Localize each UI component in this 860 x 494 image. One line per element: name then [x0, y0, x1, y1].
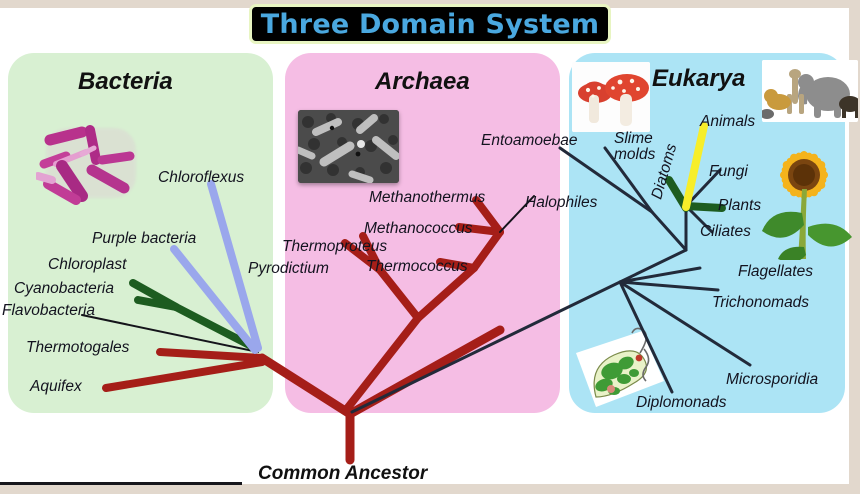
taxon-label-flavobacteria: Flavobacteria [2, 303, 95, 319]
domain-title-archaea: Archaea [375, 68, 470, 96]
bottom-rule [0, 482, 242, 485]
taxon-label-purple-bacteria: Purple bacteria [92, 231, 196, 247]
taxon-label-flagellates: Flagellates [738, 264, 813, 280]
taxon-label-diplomonads: Diplomonads [636, 395, 726, 411]
taxon-label-thermotogales: Thermotogales [26, 340, 129, 356]
taxon-label-slime-line2: molds [614, 146, 655, 163]
domain-title-bacteria: Bacteria [78, 68, 173, 96]
taxon-label-slime-line1: Slime [614, 130, 653, 147]
taxon-label-trichonomads: Trichonomads [712, 295, 809, 311]
taxon-label-fungi: Fungi [709, 164, 748, 180]
taxon-label-aquifex: Aquifex [30, 379, 82, 395]
taxon-label-chloroflexus: Chloroflexus [158, 170, 244, 186]
taxon-label-methanothermus: Methanothermus [369, 190, 485, 206]
title-banner: Three Domain System [249, 4, 611, 44]
bacteria-red-branches [106, 352, 262, 388]
root-label: Common Ancestor [258, 463, 427, 485]
taxon-label-cyanobacteria: Cyanobacteria [14, 281, 114, 297]
taxon-label-animals: Animals [700, 114, 755, 130]
taxon-label-plants: Plants [718, 198, 761, 214]
taxon-label-slime-molds: Slime molds [614, 131, 655, 163]
diagram-canvas: Three Domain System Bacteria Archaea Euk… [0, 0, 860, 494]
taxon-label-pyrodictium: Pyrodictium [248, 261, 329, 277]
taxon-label-entoamoebae: Entoamoebae [481, 133, 578, 149]
domain-title-eukarya: Eukarya [652, 65, 745, 93]
taxon-label-thermococcus: Thermococcus [366, 259, 468, 275]
taxon-label-halophiles: Halophiles [525, 195, 597, 211]
page-title: Three Domain System [261, 9, 599, 40]
taxon-label-thermoproteus: Thermoproteus [282, 239, 387, 255]
taxon-label-ciliates: Ciliates [700, 224, 751, 240]
taxon-label-microsporidia: Microsporidia [726, 372, 818, 388]
taxon-label-chloroplast: Chloroplast [48, 257, 126, 273]
taxon-label-methanococcus: Methanococcus [364, 221, 473, 237]
